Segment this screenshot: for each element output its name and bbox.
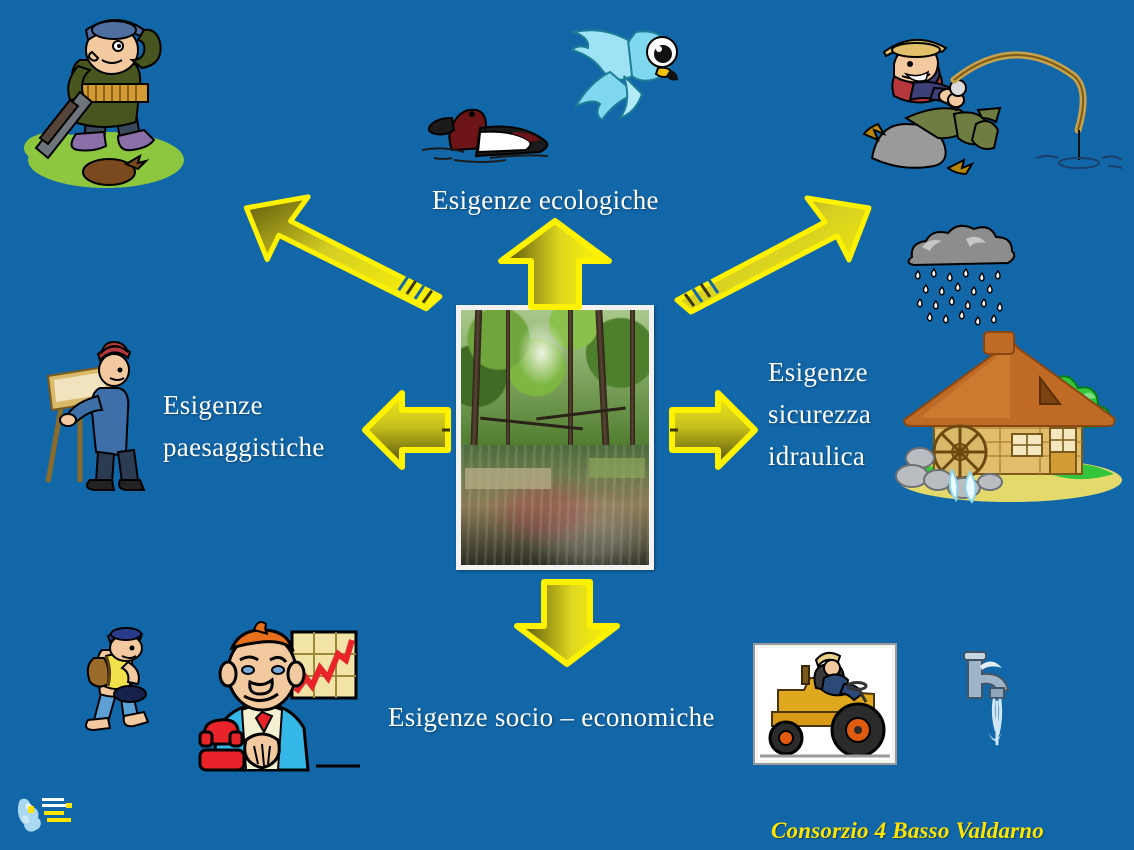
flying-bird-clipart: [562, 18, 688, 130]
consorzio-4-basso-valdarno-logo: [16, 790, 82, 838]
label-line-2: sicurezza: [768, 394, 898, 436]
label-line-1: Esigenze: [163, 385, 363, 427]
forest-stream-photo: [456, 305, 654, 570]
arrow-upright-fishing: [662, 188, 877, 313]
water-tap-clipart: [958, 648, 1028, 758]
label-esigenze-socio-economiche: Esigenze socio – economiche: [388, 697, 715, 739]
watermill-house-clipart: [890, 330, 1134, 505]
fisherman-clipart: [858, 24, 1124, 180]
surveyor-clipart: [36, 340, 156, 490]
arrow-up-ecological: [497, 217, 613, 309]
label-line-3: idraulica: [768, 436, 898, 478]
presentation-slide: Esigenze ecologiche Esigenze paesaggisti…: [0, 0, 1134, 850]
arrow-upleft-hunting: [238, 188, 453, 313]
label-line-1: Esigenze: [768, 352, 898, 394]
label-line-2: paesaggistiche: [163, 427, 363, 469]
arrow-down-socioeconomic: [512, 578, 622, 668]
hiker-clipart: [72, 628, 164, 738]
label-esigenze-ecologiche: Esigenze ecologiche: [432, 180, 659, 222]
businessman-clipart: [200, 620, 360, 775]
tractor-clipart: [754, 644, 896, 764]
rain-cloud-clipart: [896, 225, 1036, 345]
label-esigenze-paesaggistiche: Esigenze paesaggistiche: [163, 385, 363, 469]
footer-organisation-name: Consorzio 4 Basso Valdarno: [771, 818, 1044, 844]
duck-clipart: [394, 88, 564, 170]
hunter-clipart: [14, 14, 204, 190]
label-esigenze-sicurezza-idraulica: Esigenze sicurezza idraulica: [768, 352, 898, 478]
arrow-right-hydraulic: [666, 388, 760, 472]
arrow-left-landscape: [360, 388, 454, 472]
